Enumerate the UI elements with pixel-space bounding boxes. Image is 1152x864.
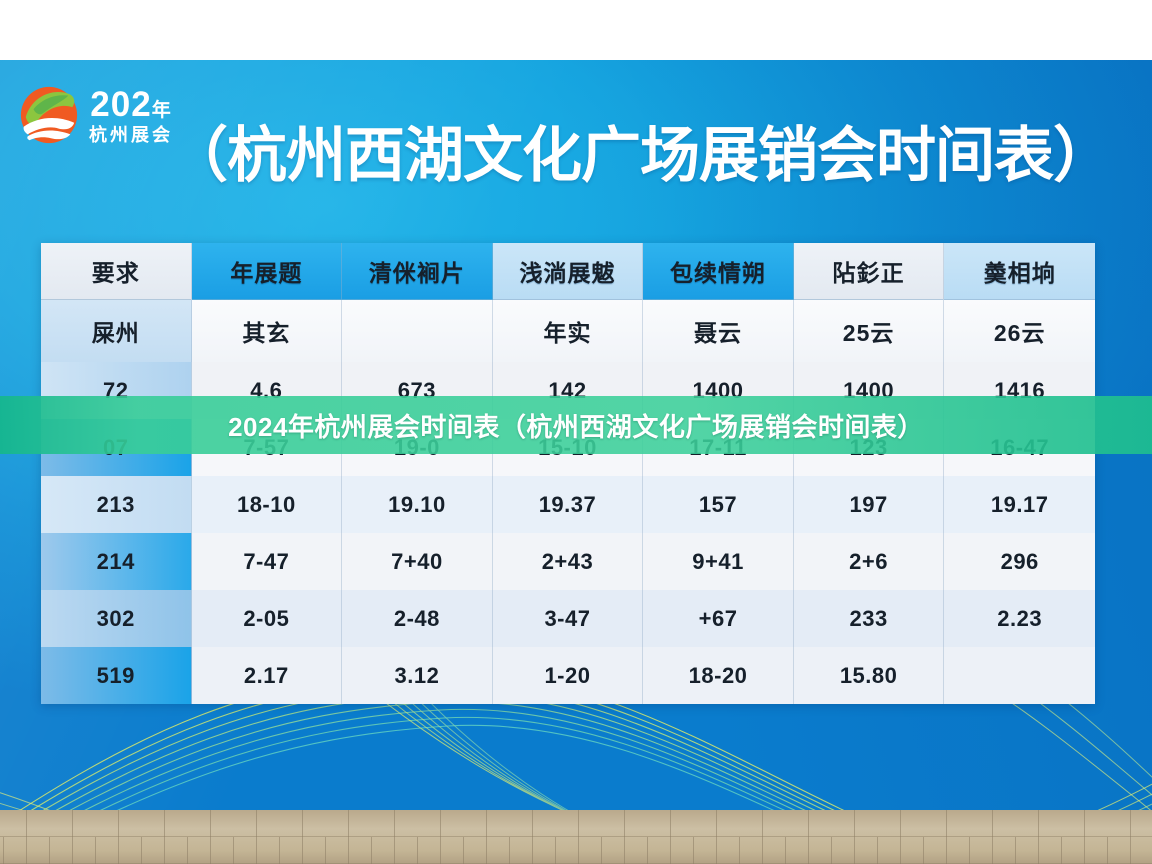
logo-wordmark: 202年 杭州展会 [89,87,173,144]
watermark-band: 2024年杭州展会时间表（杭州西湖文化广场展销会时间表） [0,396,1152,454]
screenshot-root: 202年 杭州展会 （杭州西湖文化广场展销会时间表） 要求 年展题 清侎裥片 浅… [0,0,1152,864]
pavement-strip [0,810,1152,864]
data-cell: 519 [41,647,192,704]
data-cell: 9+41 [643,533,794,590]
data-cell: 296 [944,533,1095,590]
data-cell: 18-10 [192,476,343,533]
data-cell: 302 [41,590,192,647]
label-cell-2 [342,300,493,362]
data-cell: 2-05 [192,590,343,647]
data-cell: 2.17 [192,647,343,704]
data-cell: 197 [794,476,945,533]
schedule-table: 要求 年展题 清侎裥片 浅淌展魃 包续情朔 阽釤正 羮相垧 屎州 其玄 年实 聂… [41,243,1095,704]
data-cell: +67 [643,590,794,647]
data-cell: 214 [41,533,192,590]
data-cell: 157 [643,476,794,533]
table-row: 213 18-10 19.10 19.37 157 197 19.17 [41,476,1095,533]
logo-year-suffix: 年 [152,100,172,121]
data-cell: 15.80 [794,647,945,704]
table-row: 214 7-47 7+40 2+43 9+41 2+6 296 [41,533,1095,590]
table-label-row: 屎州 其玄 年实 聂云 25云 26云 [41,300,1095,362]
table-header-cell-6: 羮相垧 [944,243,1095,300]
table-row: 519 2.17 3.12 1-20 18-20 15.80 [41,647,1095,704]
data-cell: 19.17 [944,476,1095,533]
label-cell-1: 其玄 [192,300,343,362]
data-cell: 3-47 [493,590,644,647]
table-header-cell-1: 年展题 [192,243,343,300]
table-header-cell-0: 要求 [41,243,192,300]
data-cell: 1-20 [493,647,644,704]
expo-logo: 202年 杭州展会 [18,84,173,146]
data-cell: 2.23 [944,590,1095,647]
hangzhou-expo-logo-icon [18,84,80,146]
data-cell: 7+40 [342,533,493,590]
logo-subtitle: 杭州展会 [89,126,173,144]
data-cell: 19.37 [493,476,644,533]
data-cell [944,647,1095,704]
table-header-cell-5: 阽釤正 [794,243,945,300]
top-white-margin [0,0,1152,60]
label-cell-4: 聂云 [643,300,794,362]
data-cell: 2-48 [342,590,493,647]
logo-year: 202年 [90,87,171,122]
label-cell-3: 年实 [493,300,644,362]
data-cell: 233 [794,590,945,647]
table-header-row: 要求 年展题 清侎裥片 浅淌展魃 包续情朔 阽釤正 羮相垧 [41,243,1095,300]
table-header-cell-3: 浅淌展魃 [493,243,644,300]
label-cell-5: 25云 [794,300,945,362]
pavement-grout-lines-offset [3,837,1152,864]
table-body: 屎州 其玄 年实 聂云 25云 26云 72 4.6 673 142 1400 … [41,300,1095,704]
table-head: 要求 年展题 清侎裥片 浅淌展魃 包续情朔 阽釤正 羮相垧 [41,243,1095,300]
data-cell: 2+43 [493,533,644,590]
table-header-cell-4: 包续情朔 [643,243,794,300]
label-cell-6: 26云 [944,300,1095,362]
label-cell-0: 屎州 [41,300,192,362]
table-header-cell-2: 清侎裥片 [342,243,493,300]
watermark-text: 2024年杭州展会时间表（杭州西湖文化广场展销会时间表） [228,407,924,444]
data-cell: 3.12 [342,647,493,704]
data-cell: 213 [41,476,192,533]
data-cell: 19.10 [342,476,493,533]
wall-headline: （杭州西湖文化广场展销会时间表） [168,126,1112,186]
data-cell: 7-47 [192,533,343,590]
data-cell: 18-20 [643,647,794,704]
data-cell: 2+6 [794,533,945,590]
logo-year-number: 202 [90,85,151,124]
table-row: 302 2-05 2-48 3-47 +67 233 2.23 [41,590,1095,647]
